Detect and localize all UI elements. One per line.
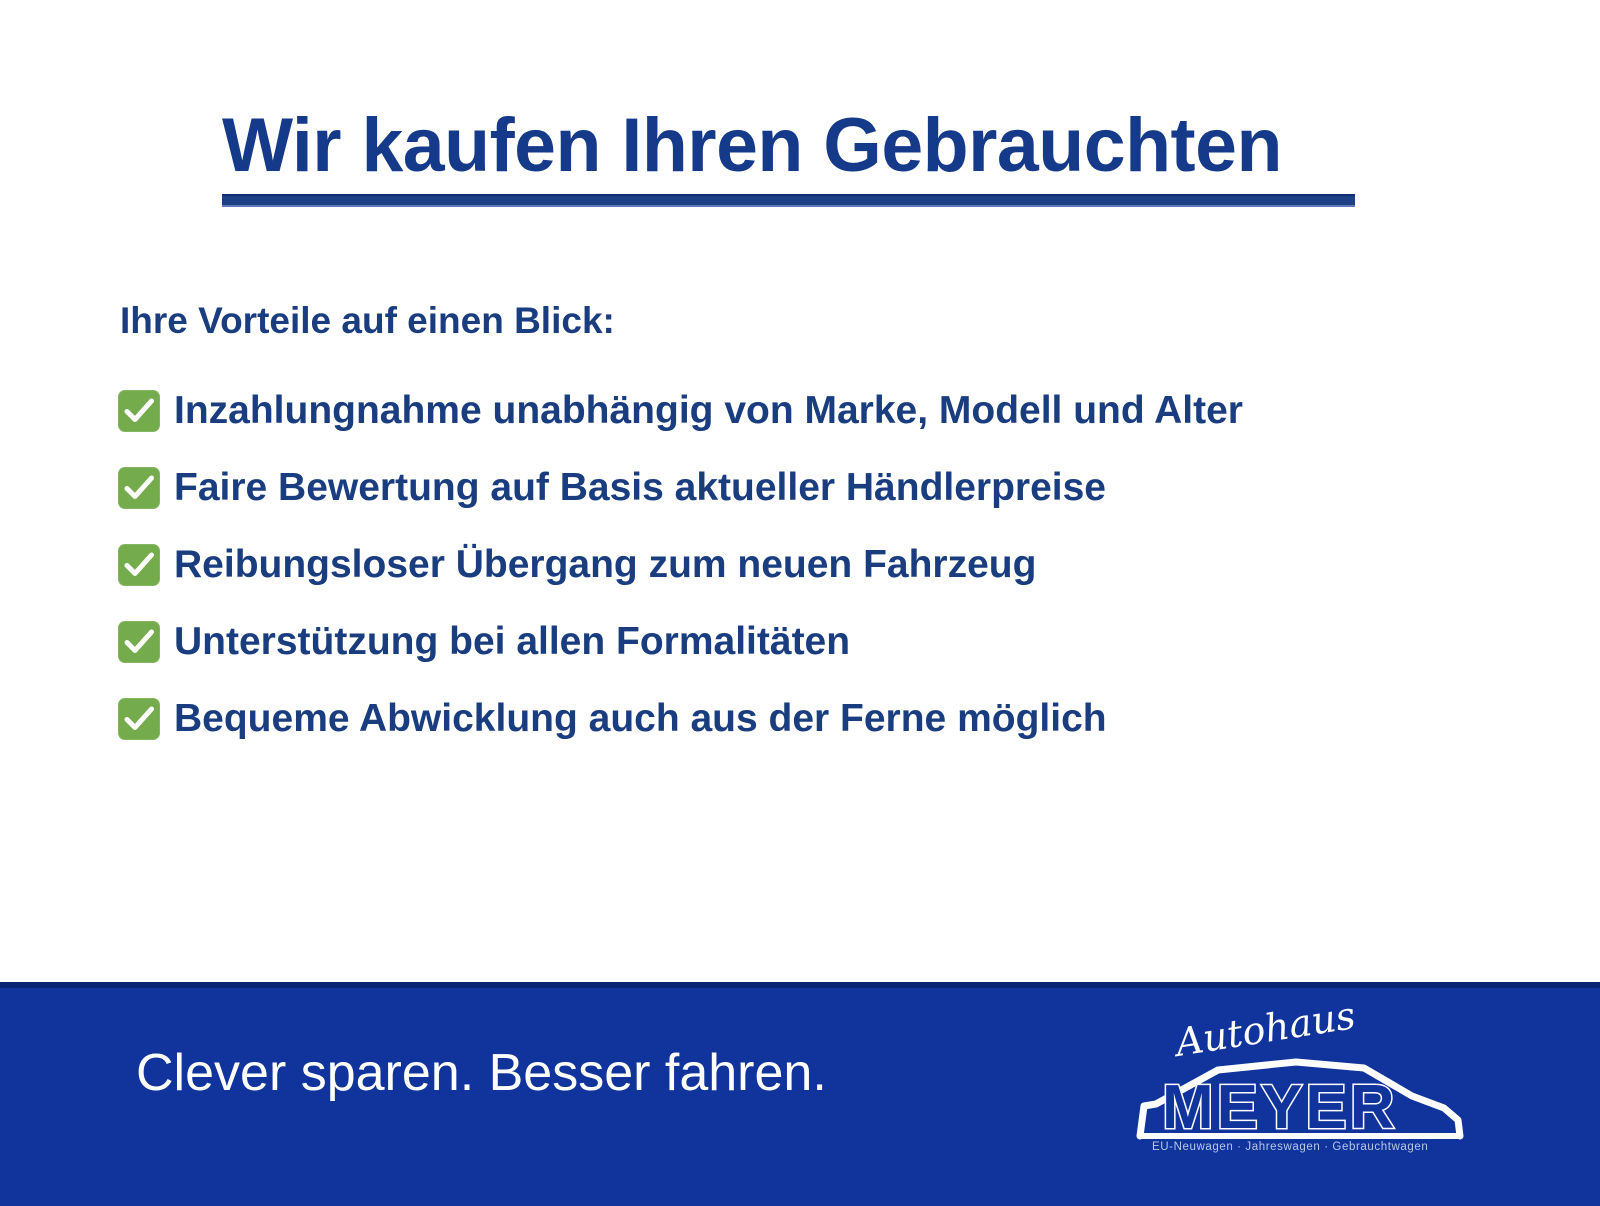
benefits-list: Inzahlungnahme unabhängig von Marke, Mod… (118, 372, 1518, 757)
check-square-icon (118, 544, 160, 586)
footer-slogan: Clever sparen. Besser fahren. (136, 1043, 827, 1103)
list-item: Bequeme Abwicklung auch aus der Ferne mö… (118, 680, 1518, 757)
list-item: Faire Bewertung auf Basis aktueller Händ… (118, 449, 1518, 526)
list-item: Inzahlungnahme unabhängig von Marke, Mod… (118, 372, 1518, 449)
check-square-icon (118, 621, 160, 663)
logo-tagline: EU-Neuwagen · Jahreswagen · Gebrauchtwag… (1152, 1141, 1428, 1153)
check-square-icon (118, 698, 160, 740)
list-item: Unterstützung bei allen Formalitäten (118, 603, 1518, 680)
check-square-icon (118, 390, 160, 432)
list-item-label: Reibungsloser Übergang zum neuen Fahrzeu… (174, 542, 1036, 588)
list-item: Reibungsloser Übergang zum neuen Fahrzeu… (118, 526, 1518, 603)
list-item-label: Bequeme Abwicklung auch aus der Ferne mö… (174, 696, 1107, 742)
dealer-logo: Autohaus MEYER EU-Neuwagen · Jahreswagen… (1126, 1000, 1472, 1166)
page-title-block: Wir kaufen Ihren Gebrauchten (222, 104, 1362, 207)
list-item-label: Faire Bewertung auf Basis aktueller Händ… (174, 465, 1106, 511)
logo-script-text: Autohaus (1170, 1000, 1359, 1065)
title-underline-rule (222, 194, 1355, 207)
benefits-subheading: Ihre Vorteile auf einen Blick: (120, 298, 615, 344)
list-item-label: Unterstützung bei allen Formalitäten (174, 619, 850, 665)
page-title: Wir kaufen Ihren Gebrauchten (222, 104, 1351, 188)
footer-band: Clever sparen. Besser fahren. Autohaus M… (0, 982, 1600, 1206)
check-square-icon (118, 467, 160, 509)
flyer-page: Wir kaufen Ihren Gebrauchten Ihre Vortei… (0, 0, 1600, 1200)
logo-wordmark: MEYER (1162, 1073, 1397, 1142)
list-item-label: Inzahlungnahme unabhängig von Marke, Mod… (174, 388, 1243, 434)
